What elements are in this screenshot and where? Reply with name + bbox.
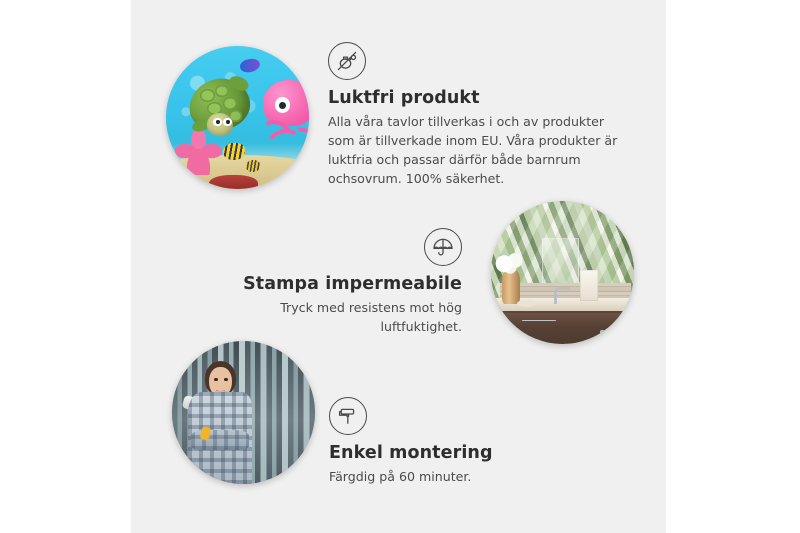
product-photo-bathroom [491,201,634,344]
feature-body-easy-mounting: Färgdig på 60 minuter. [329,467,589,486]
feature-title-odorless: Luktfri produkt [328,88,628,108]
umbrella-icon [424,228,462,266]
product-photo-forest-installer [172,341,315,484]
feature-title-easy-mounting: Enkel montering [329,443,589,463]
no-fragrance-icon [328,42,366,80]
feature-body-odorless: Alla våra tavlor tillverkas i och av pro… [328,112,628,189]
feature-title-waterproof: Stampa impermeabile [212,274,462,294]
paint-roller-icon [329,397,367,435]
feature-block-odorless: Luktfri produkt Alla våra tavlor tillver… [328,42,628,189]
feature-body-waterproof: Tryck med resistens mot hög luftfuktighe… [212,298,462,336]
product-feature-panel: Luktfri produkt Alla våra tavlor tillver… [0,0,800,533]
feature-block-easy-mounting: Enkel montering Färgdig på 60 minuter. [329,397,589,486]
product-photo-underwater [166,46,309,189]
feature-block-waterproof: Stampa impermeabile Tryck med resistens … [212,228,462,336]
